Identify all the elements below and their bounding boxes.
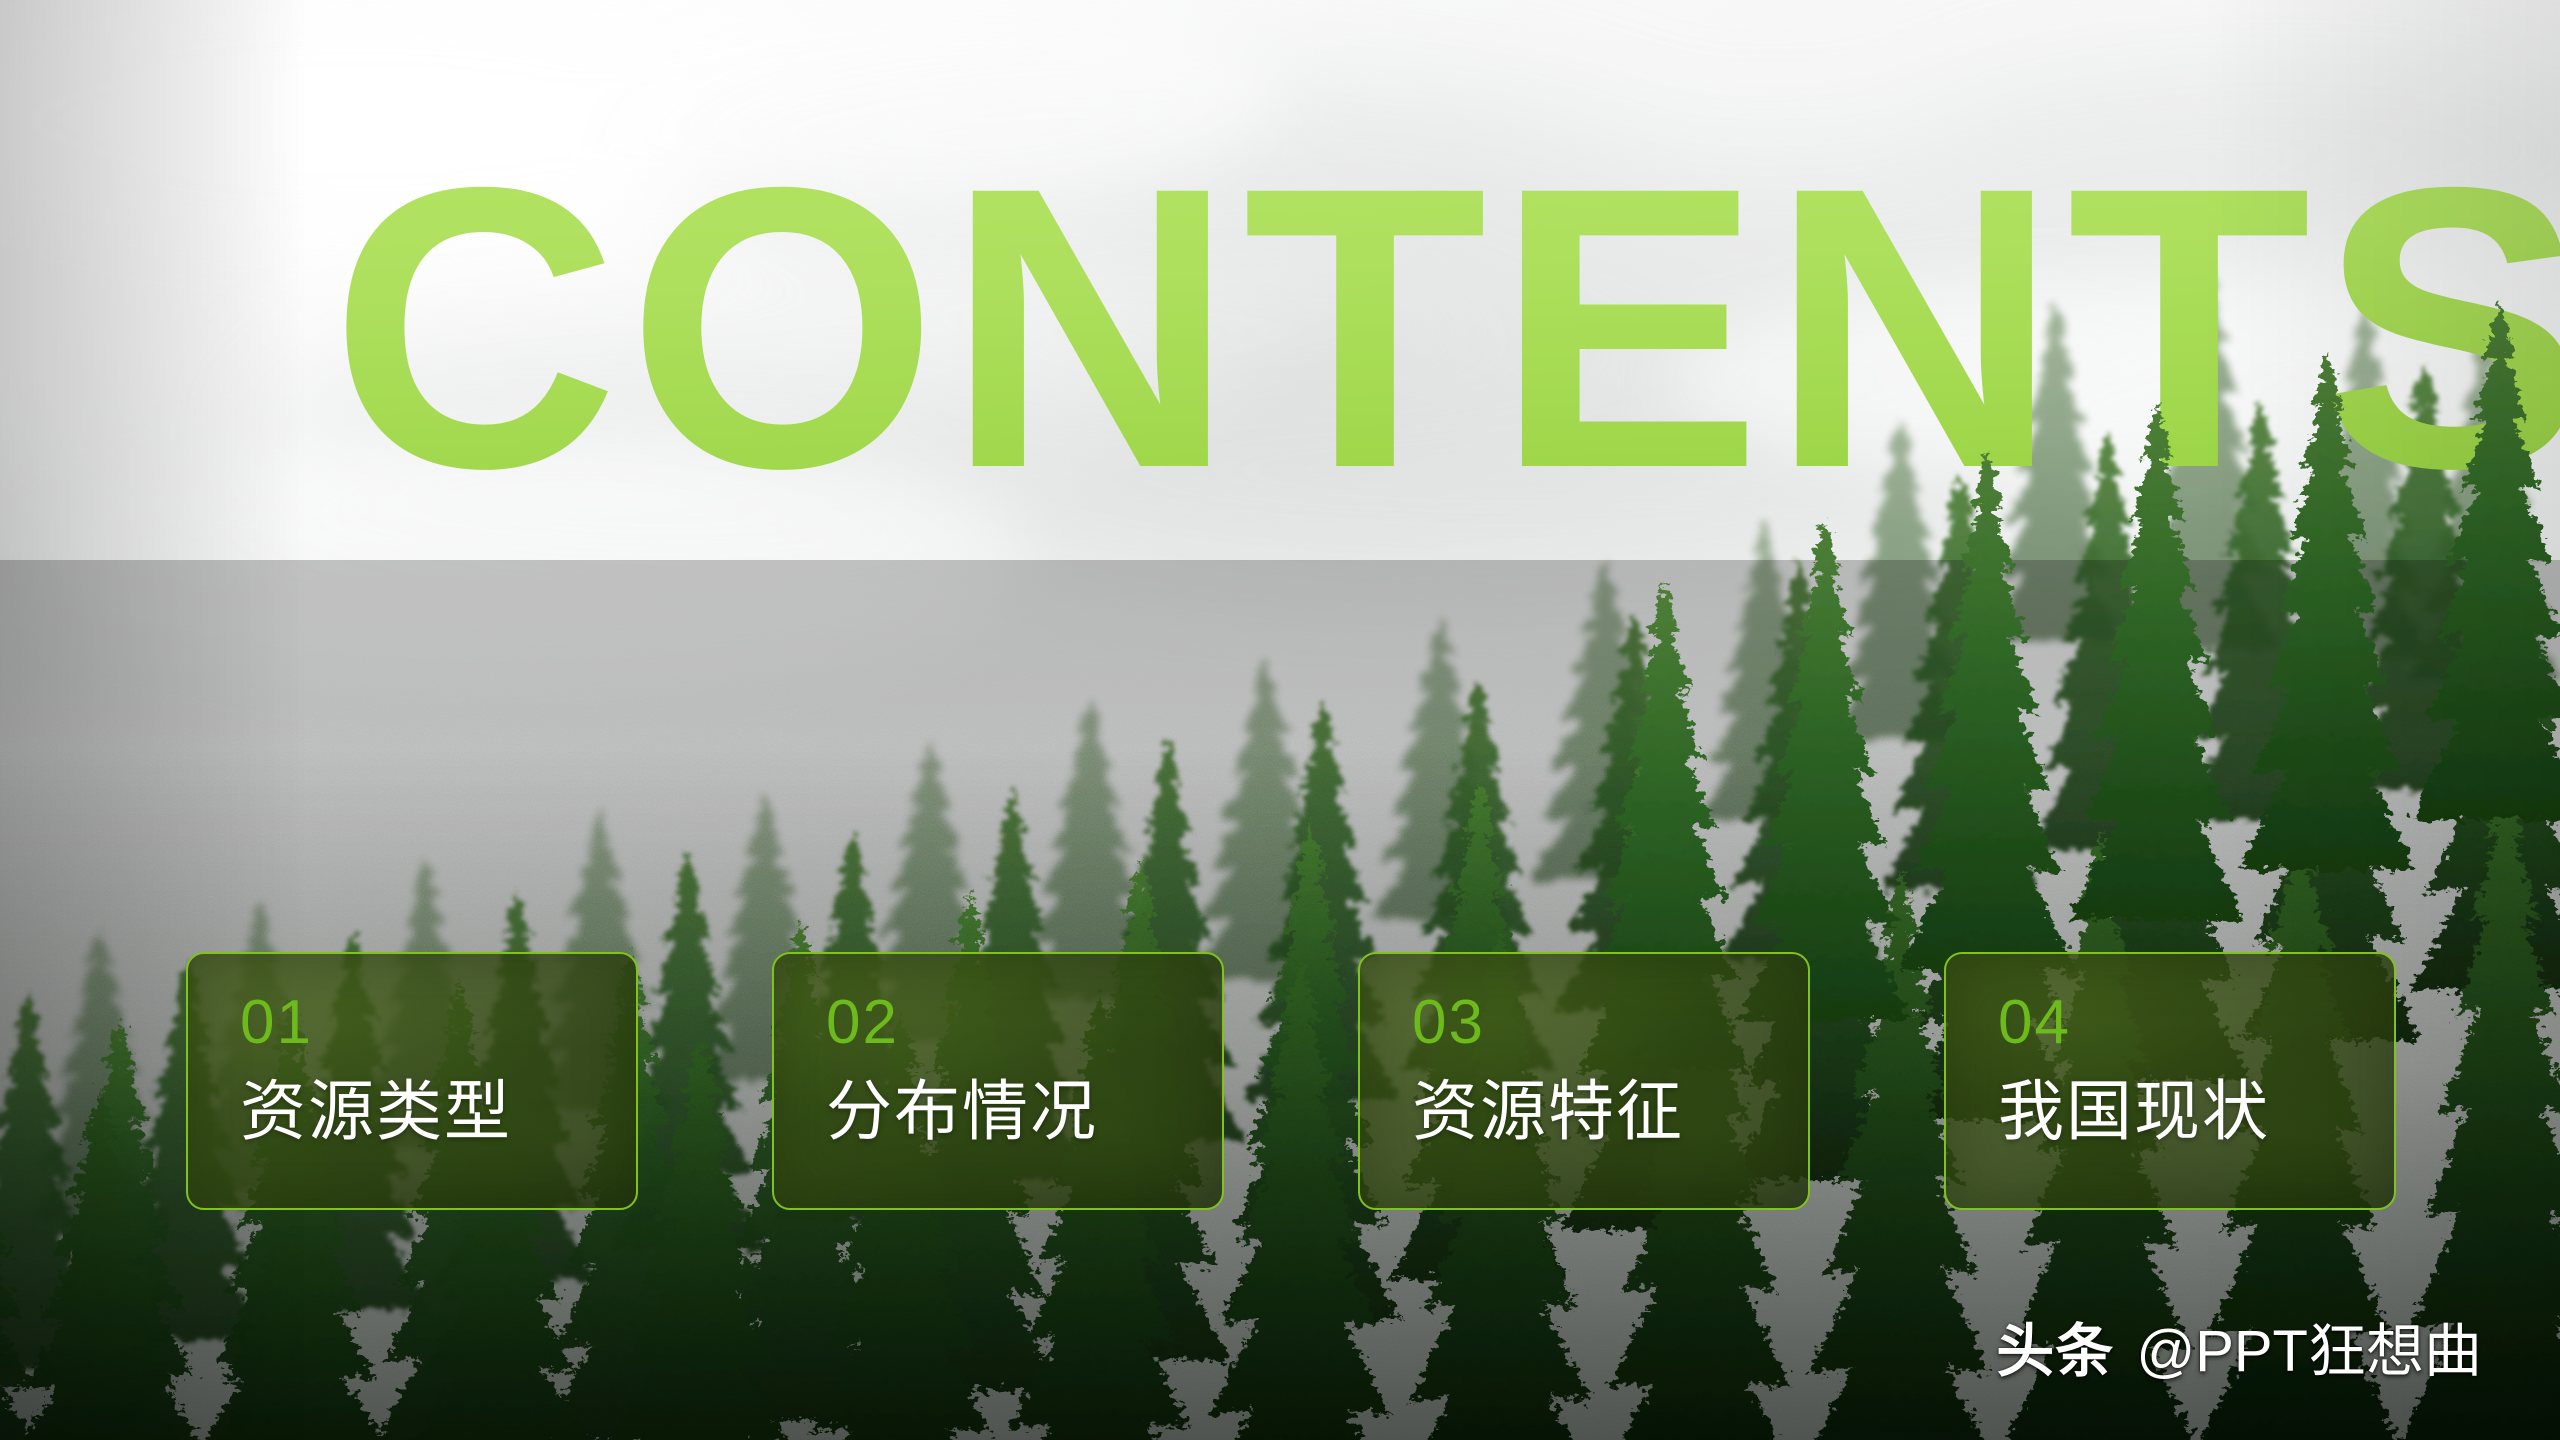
contents-card-03[interactable]: 03 资源特征 (1358, 952, 1810, 1210)
contents-card-list: 01 资源类型 02 分布情况 03 资源特征 04 我国现状 (186, 952, 2396, 1210)
slide-canvas: CONTENTS 01 资源类型 (0, 0, 2560, 1440)
card-number: 01 (240, 992, 636, 1054)
card-number: 03 (1412, 992, 1808, 1054)
contents-card-01[interactable]: 01 资源类型 (186, 952, 638, 1210)
watermark-handle: @PPT狂想曲 (2136, 1304, 2482, 1388)
edge-vignette (0, 0, 2560, 1440)
card-number: 04 (1998, 992, 2394, 1054)
card-label: 分布情况 (826, 1076, 1222, 1147)
card-number: 02 (826, 992, 1222, 1054)
contents-card-04[interactable]: 04 我国现状 (1944, 952, 2396, 1210)
card-label: 资源特征 (1412, 1076, 1808, 1147)
watermark-brand: 头条 (1996, 1304, 2114, 1388)
contents-card-02[interactable]: 02 分布情况 (772, 952, 1224, 1210)
watermark: 头条 @PPT狂想曲 (1996, 1304, 2482, 1388)
card-label: 资源类型 (240, 1076, 636, 1147)
card-label: 我国现状 (1998, 1076, 2394, 1147)
